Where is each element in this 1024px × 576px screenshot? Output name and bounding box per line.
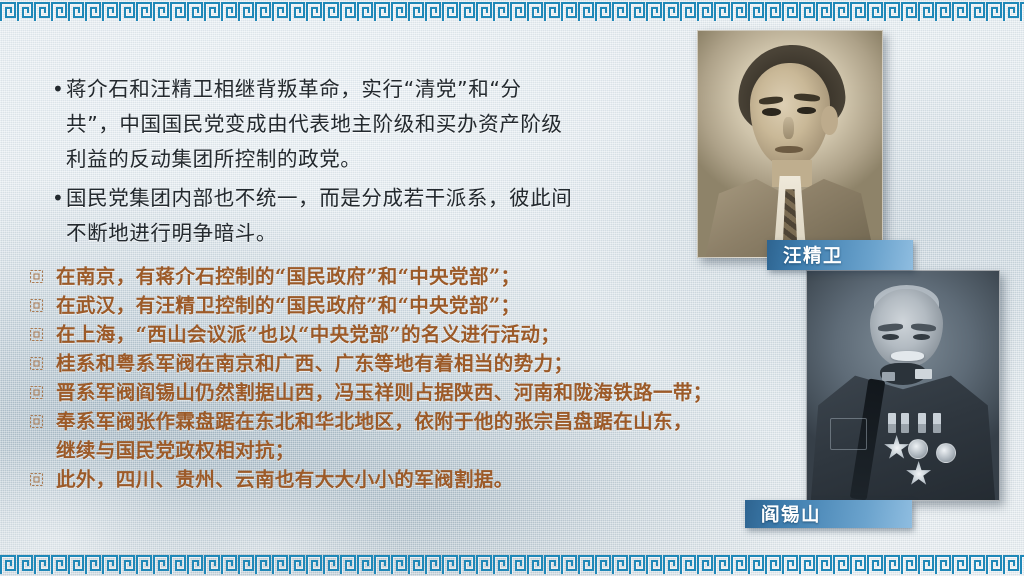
slide-canvas: • 蒋介石和汪精卫相继背叛革命，实行“清党”和“分 共”，中国国民党变成由代表地… — [0, 0, 1024, 576]
meander-unit — [340, 1, 357, 22]
meander-unit — [1020, 554, 1024, 575]
meander-unit — [408, 554, 425, 575]
meander-unit — [510, 1, 527, 22]
meander-unit — [952, 554, 969, 575]
meander-unit — [34, 1, 51, 22]
meander-unit — [595, 1, 612, 22]
meander-unit — [238, 1, 255, 22]
meander-unit — [425, 1, 442, 22]
meander-unit — [374, 1, 391, 22]
meander-unit — [187, 1, 204, 22]
square-outline-icon — [30, 407, 56, 428]
meander-unit — [323, 554, 340, 575]
meander-unit — [459, 1, 476, 22]
meander-unit — [952, 1, 969, 22]
meander-unit — [731, 1, 748, 22]
meander-unit — [493, 1, 510, 22]
meander-unit — [221, 1, 238, 22]
meander-unit — [918, 554, 935, 575]
wang-jingwei-portrait — [697, 30, 883, 258]
list-item-label: 晋系军阀阎锡山仍然割据山西，冯玉祥则占据陕西、河南和陇海铁路一带； — [56, 378, 713, 407]
meander-unit — [765, 554, 782, 575]
meander-unit — [850, 1, 867, 22]
meander-unit — [85, 554, 102, 575]
bullet-paragraph: • 蒋介石和汪精卫相继背叛革命，实行“清党”和“分 共”，中国国民党变成由代表地… — [52, 72, 680, 177]
list-item: 在武汉，有汪精卫控制的“国民政府”和“中央党部”； — [30, 291, 750, 320]
meander-unit — [187, 554, 204, 575]
list-item: 奉系军阀张作霖盘踞在东北和华北地区，依附于他的张宗昌盘踞在山东， — [30, 407, 750, 436]
list-item: 在南京，有蒋介石控制的“国民政府”和“中央党部”； — [30, 262, 750, 291]
meander-unit — [68, 554, 85, 575]
square-outline-icon — [30, 378, 56, 399]
meander-unit — [68, 1, 85, 22]
meander-unit — [442, 1, 459, 22]
meander-unit — [901, 1, 918, 22]
meander-unit — [867, 554, 884, 575]
meander-unit — [221, 554, 238, 575]
meander-unit — [204, 554, 221, 575]
meander-unit — [34, 554, 51, 575]
photo-caption-yan: 阎锡山 — [745, 500, 912, 528]
meander-unit — [748, 554, 765, 575]
meander-unit — [816, 1, 833, 22]
meander-unit — [17, 1, 34, 22]
list-item-label: 在武汉，有汪精卫控制的“国民政府”和“中央党部”； — [56, 291, 520, 320]
meander-unit — [17, 554, 34, 575]
meander-unit — [1020, 1, 1024, 22]
meander-unit — [357, 1, 374, 22]
photo-caption-wang: 汪精卫 — [767, 240, 913, 270]
medal-group — [888, 413, 965, 429]
meander-unit — [697, 554, 714, 575]
meander-unit — [204, 1, 221, 22]
meander-unit — [323, 1, 340, 22]
meander-unit — [680, 554, 697, 575]
meander-unit — [782, 554, 799, 575]
list-item-label: 在南京，有蒋介石控制的“国民政府”和“中央党部”； — [56, 262, 520, 291]
meander-unit — [272, 554, 289, 575]
square-outline-icon — [30, 320, 56, 341]
meander-unit — [544, 554, 561, 575]
meander-unit — [748, 1, 765, 22]
meander-unit — [731, 554, 748, 575]
meander-unit — [408, 1, 425, 22]
meander-unit — [663, 554, 680, 575]
meander-unit — [306, 1, 323, 22]
meander-unit — [136, 1, 153, 22]
meander-unit — [85, 1, 102, 22]
meander-unit — [170, 1, 187, 22]
meander-unit — [289, 554, 306, 575]
meander-unit — [663, 1, 680, 22]
square-outline-icon — [30, 465, 56, 486]
bottom-border-ornament — [0, 553, 1024, 576]
meander-unit — [289, 1, 306, 22]
meander-unit — [442, 554, 459, 575]
square-outline-icon — [30, 349, 56, 370]
faction-list: 在南京，有蒋介石控制的“国民政府”和“中央党部”； 在武汉，有汪精卫控制的“国民… — [30, 262, 750, 494]
meander-unit — [578, 554, 595, 575]
meander-unit — [697, 1, 714, 22]
meander-unit — [153, 554, 170, 575]
meander-unit — [391, 554, 408, 575]
meander-unit — [476, 1, 493, 22]
list-item: 此外，四川、贵州、云南也有大大小小的军阀割据。 — [30, 465, 750, 494]
list-item: 晋系军阀阎锡山仍然割据山西，冯玉祥则占据陕西、河南和陇海铁路一带； — [30, 378, 750, 407]
meander-unit — [238, 554, 255, 575]
meander-unit — [901, 554, 918, 575]
meander-unit — [153, 1, 170, 22]
meander-unit — [969, 1, 986, 22]
meander-unit — [255, 554, 272, 575]
meander-unit — [561, 1, 578, 22]
meander-unit — [510, 554, 527, 575]
meander-unit — [51, 554, 68, 575]
meander-unit — [561, 554, 578, 575]
meander-unit — [629, 1, 646, 22]
meander-unit — [493, 554, 510, 575]
list-item-label-wrapped: 继续与国民党政权相对抗； — [56, 436, 295, 465]
meander-unit — [527, 554, 544, 575]
meander-unit — [765, 1, 782, 22]
meander-unit — [0, 1, 17, 22]
meander-unit — [799, 1, 816, 22]
meander-unit — [544, 1, 561, 22]
meander-unit — [816, 554, 833, 575]
meander-unit — [969, 554, 986, 575]
meander-unit — [1003, 1, 1020, 22]
meander-unit — [425, 554, 442, 575]
meander-unit — [119, 554, 136, 575]
meander-unit — [306, 554, 323, 575]
square-outline-icon — [30, 291, 56, 312]
meander-unit — [102, 1, 119, 22]
meander-unit — [918, 1, 935, 22]
meander-unit — [986, 554, 1003, 575]
meander-unit — [0, 554, 17, 575]
bullet-dot-icon: • — [52, 72, 66, 107]
bullet-paragraph-text: 国民党集团内部也不统一，而是分成若干派系，彼此间 不断地进行明争暗斗。 — [66, 181, 572, 251]
meander-unit — [935, 554, 952, 575]
list-item: 桂系和粤系军阀在南京和广西、广东等地有着相当的势力； — [30, 349, 750, 378]
meander-unit — [51, 1, 68, 22]
meander-unit — [850, 554, 867, 575]
meander-unit — [476, 554, 493, 575]
list-item-label: 奉系军阀张作霖盘踞在东北和华北地区，依附于他的张宗昌盘踞在山东， — [56, 407, 693, 436]
meander-unit — [357, 554, 374, 575]
meander-unit — [136, 554, 153, 575]
list-item-continuation: 继续与国民党政权相对抗； — [30, 436, 750, 465]
top-border-ornament — [0, 0, 1024, 23]
meander-unit — [833, 554, 850, 575]
bullet-paragraph-text: 蒋介石和汪精卫相继背叛革命，实行“清党”和“分 共”，中国国民党变成由代表地主阶… — [66, 72, 563, 177]
meander-unit — [102, 554, 119, 575]
meander-unit — [459, 554, 476, 575]
meander-unit — [119, 1, 136, 22]
meander-unit — [527, 1, 544, 22]
meander-unit — [170, 554, 187, 575]
list-item-label: 在上海，“西山会议派”也以“中央党部”的名义进行活动； — [56, 320, 560, 349]
bullet-dot-icon: • — [52, 181, 66, 216]
meander-unit — [833, 1, 850, 22]
meander-unit — [391, 1, 408, 22]
meander-unit — [612, 1, 629, 22]
meander-unit — [867, 1, 884, 22]
list-item-label: 此外，四川、贵州、云南也有大大小小的军阀割据。 — [56, 465, 514, 494]
meander-unit — [986, 1, 1003, 22]
bullet-paragraph: • 国民党集团内部也不统一，而是分成若干派系，彼此间 不断地进行明争暗斗。 — [52, 181, 680, 251]
meander-unit — [629, 554, 646, 575]
meander-unit — [1003, 554, 1020, 575]
meander-unit — [782, 1, 799, 22]
meander-unit — [884, 554, 901, 575]
yan-xishan-portrait — [806, 270, 1000, 501]
meander-unit — [935, 1, 952, 22]
meander-unit — [884, 1, 901, 22]
meander-unit — [595, 554, 612, 575]
meander-unit — [646, 554, 663, 575]
list-item-label: 桂系和粤系军阀在南京和广西、广东等地有着相当的势力； — [56, 349, 573, 378]
meander-unit — [714, 554, 731, 575]
meander-unit — [612, 554, 629, 575]
meander-unit — [272, 1, 289, 22]
bullet-text-block: • 蒋介石和汪精卫相继背叛革命，实行“清党”和“分 共”，中国国民党变成由代表地… — [52, 72, 680, 255]
meander-unit — [646, 1, 663, 22]
meander-unit — [374, 554, 391, 575]
meander-unit — [578, 1, 595, 22]
meander-unit — [680, 1, 697, 22]
square-outline-icon — [30, 262, 56, 283]
meander-unit — [799, 554, 816, 575]
list-item: 在上海，“西山会议派”也以“中央党部”的名义进行活动； — [30, 320, 750, 349]
meander-unit — [340, 554, 357, 575]
meander-unit — [255, 1, 272, 22]
meander-unit — [714, 1, 731, 22]
